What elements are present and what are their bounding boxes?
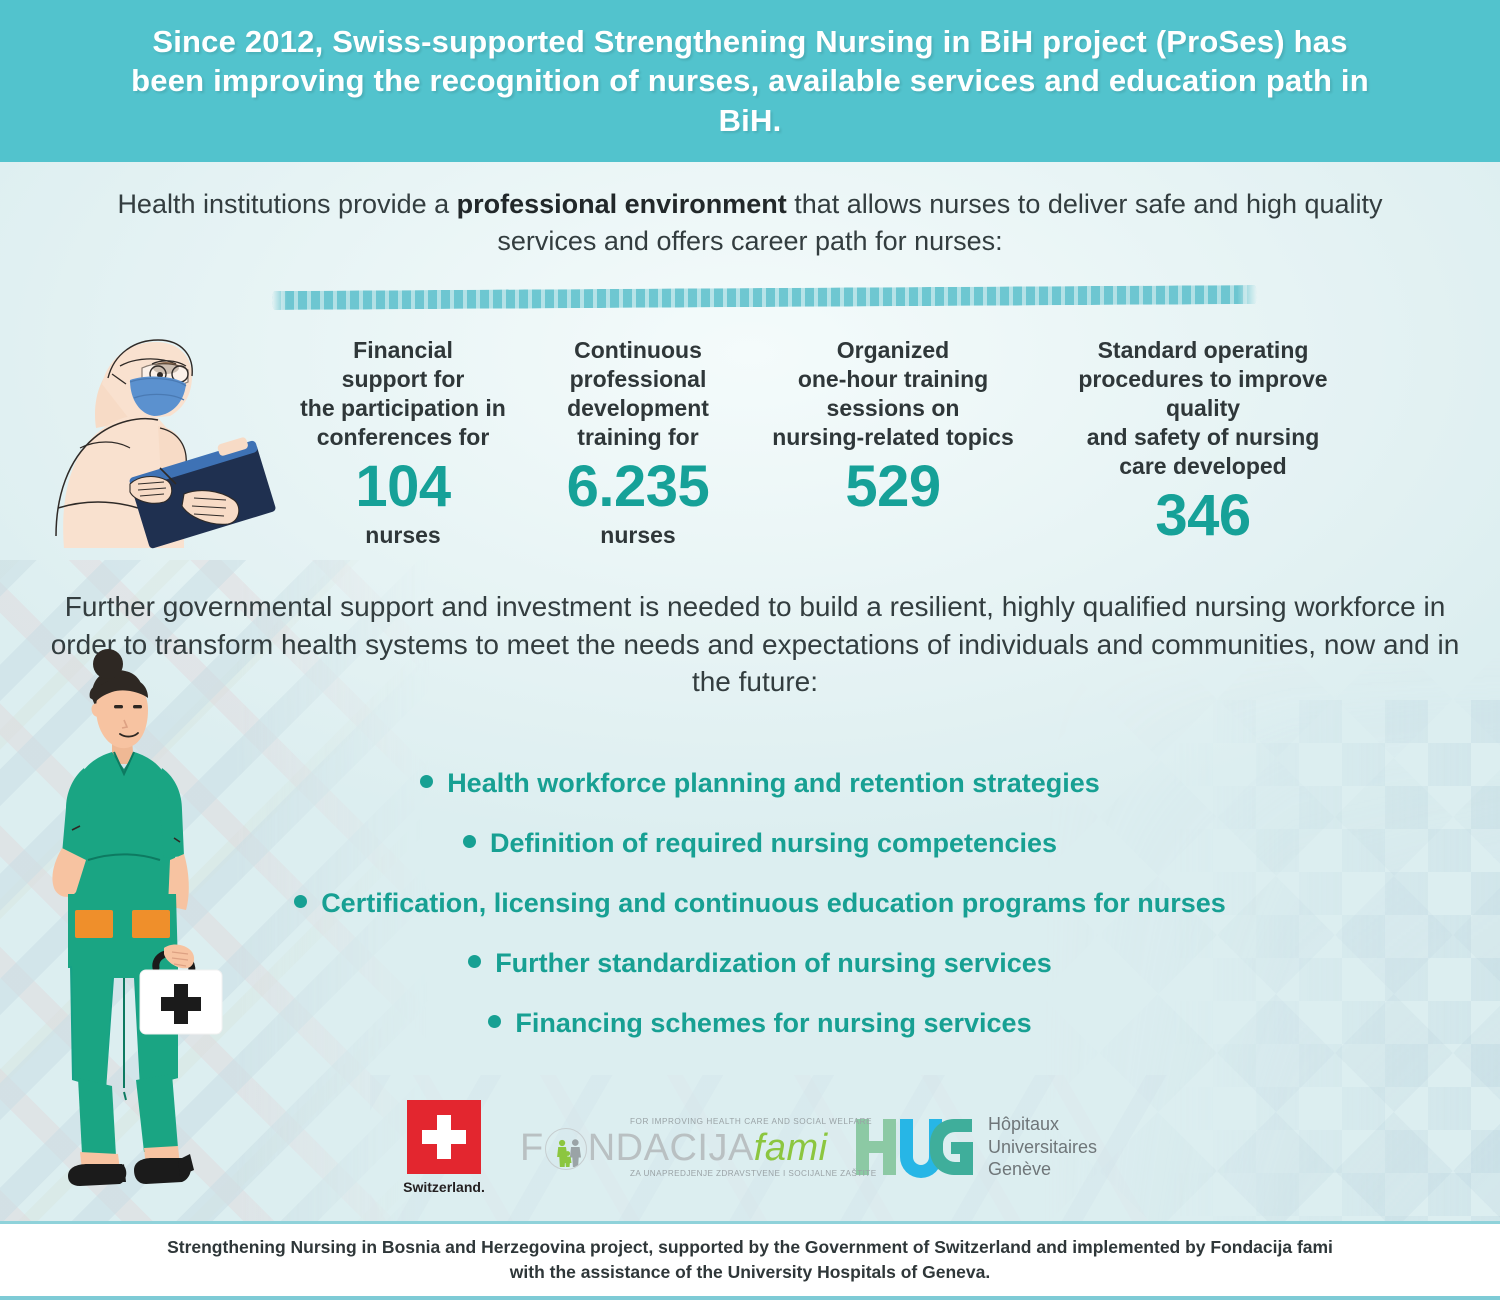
stat-value: 346: [1044, 487, 1362, 545]
statistics-row: Financial support for the participation …: [278, 336, 1458, 551]
list-item: Further standardization of nursing servi…: [230, 948, 1290, 979]
stat-card: Organized one-hour training sessions on …: [748, 336, 1038, 522]
header-band: Since 2012, Swiss-supported Strengthenin…: [0, 0, 1500, 162]
list-item: Certification, licensing and continuous …: [230, 888, 1290, 919]
ppe-healthcare-worker-illustration: [34, 308, 284, 580]
bullet-dot-icon: [488, 1015, 501, 1028]
stat-label: Continuous professional development trai…: [534, 336, 742, 452]
fondacija-fami-logo: FOR IMPROVING HEALTH CARE AND SOCIAL WEL…: [514, 1109, 814, 1185]
list-item-label: Health workforce planning and retention …: [447, 768, 1100, 799]
hug-name-label: Hôpitaux Universitaires Genève: [988, 1113, 1097, 1181]
stat-unit: nurses: [284, 522, 522, 549]
intro-text-before: Health institutions provide a: [117, 189, 456, 219]
list-item-label: Definition of required nursing competenc…: [490, 828, 1057, 859]
fami-tagline-en: FOR IMPROVING HEALTH CARE AND SOCIAL WEL…: [630, 1117, 872, 1126]
stat-card: Financial support for the participation …: [278, 336, 528, 549]
intro-paragraph: Health institutions provide a profession…: [70, 186, 1430, 261]
stat-label: Standard operating procedures to improve…: [1044, 336, 1362, 481]
fami-letter-f: F: [520, 1127, 544, 1170]
stat-unit: nurses: [534, 522, 742, 549]
switzerland-label: Switzerland.: [390, 1179, 498, 1195]
switzerland-logo: Switzerland.: [390, 1100, 498, 1195]
stat-value: 104: [284, 458, 522, 516]
list-item: Health workforce planning and retention …: [230, 768, 1290, 799]
recommendations-list: Health workforce planning and retention …: [230, 768, 1290, 1068]
list-item-label: Further standardization of nursing servi…: [495, 948, 1052, 979]
stat-card: Continuous professional development trai…: [528, 336, 748, 549]
stat-label: Organized one-hour training sessions on …: [754, 336, 1032, 452]
stat-label: Financial support for the participation …: [284, 336, 522, 452]
call-to-action-paragraph: Further governmental support and investm…: [50, 588, 1460, 701]
list-item: Financing schemes for nursing services: [230, 1008, 1290, 1039]
partner-logos: Switzerland. FOR IMPROVING HEALTH CARE A…: [390, 1092, 1130, 1202]
list-item-label: Certification, licensing and continuous …: [321, 888, 1226, 919]
fami-word-green: fami: [754, 1127, 828, 1170]
page-title: Since 2012, Swiss-supported Strengthenin…: [120, 22, 1380, 139]
swiss-flag-icon: [407, 1100, 481, 1174]
intro-emphasis: professional environment: [457, 189, 787, 219]
fami-tagline-local: ZA UNAPREDJENJE ZDRAVSTVENE I SOCIJALNE …: [630, 1169, 877, 1178]
bullet-dot-icon: [468, 955, 481, 968]
fami-word-rest: NDACIJA: [588, 1127, 754, 1170]
stat-value: 6.235: [534, 458, 742, 516]
fami-wordmark: F NDACIJA fami: [520, 1127, 828, 1170]
infographic-page: Since 2012, Swiss-supported Strengthenin…: [0, 0, 1500, 1300]
stat-value: 529: [754, 458, 1032, 516]
list-item: Definition of required nursing competenc…: [230, 828, 1290, 859]
hug-logo: Hôpitaux Universitaires Genève: [854, 1113, 1097, 1181]
footer-band: Strengthening Nursing in Bosnia and Herz…: [0, 1221, 1500, 1300]
bullet-dot-icon: [463, 835, 476, 848]
footer-text: Strengthening Nursing in Bosnia and Herz…: [130, 1235, 1370, 1285]
stat-card: Standard operating procedures to improve…: [1038, 336, 1368, 551]
bullet-dot-icon: [294, 895, 307, 908]
fami-family-icon: [545, 1128, 587, 1170]
list-item-label: Financing schemes for nursing services: [515, 1008, 1031, 1039]
nurse-illustration: [28, 648, 223, 1228]
bullet-dot-icon: [420, 775, 433, 788]
